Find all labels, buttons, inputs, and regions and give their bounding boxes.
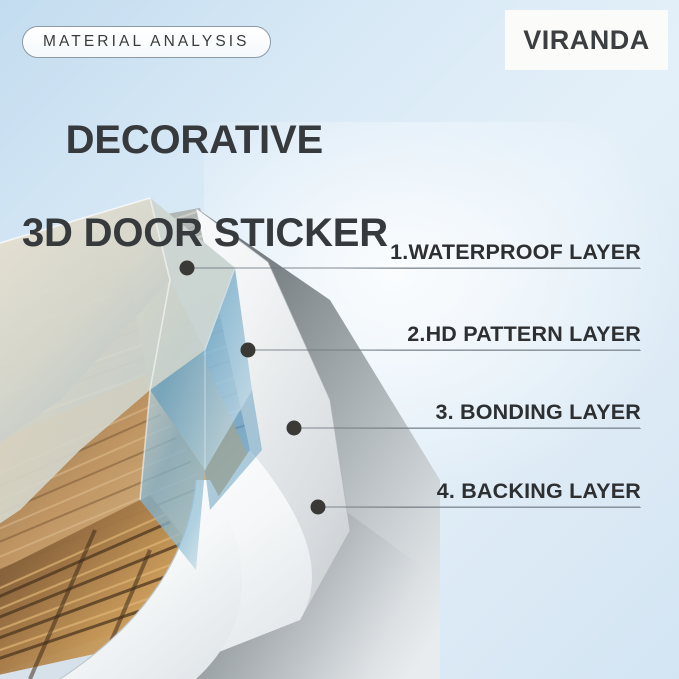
page-title: DECORATIVE 3D DOOR STICKER [22,70,388,351]
title-line-2: 3D DOOR STICKER [22,210,388,257]
title-line-1: DECORATIVE [66,118,323,162]
section-badge: MATERIAL ANALYSIS [22,26,271,58]
callout-label-1: 1.WATERPROOF LAYER [341,240,641,265]
callout-rule-4 [341,507,641,508]
brand-name: VIRANDA [523,25,650,56]
callout-waterproof-layer: 1.WATERPROOF LAYER [341,240,641,269]
callout-label-3: 3. BONDING LAYER [341,400,641,425]
callout-label-4: 4. BACKING LAYER [341,479,641,504]
callout-rule-3 [341,428,641,429]
callout-label-2: 2.HD PATTERN LAYER [341,322,641,347]
callout-backing-layer: 4. BACKING LAYER [341,479,641,508]
material-analysis-infographic: MATERIAL ANALYSIS DECORATIVE 3D DOOR STI… [0,0,679,679]
callout-hd-pattern-layer: 2.HD PATTERN LAYER [341,322,641,351]
callout-bonding-layer: 3. BONDING LAYER [341,400,641,429]
callout-rule-2 [341,350,641,351]
callout-rule-1 [341,268,641,269]
brand-logo: VIRANDA [505,10,668,70]
